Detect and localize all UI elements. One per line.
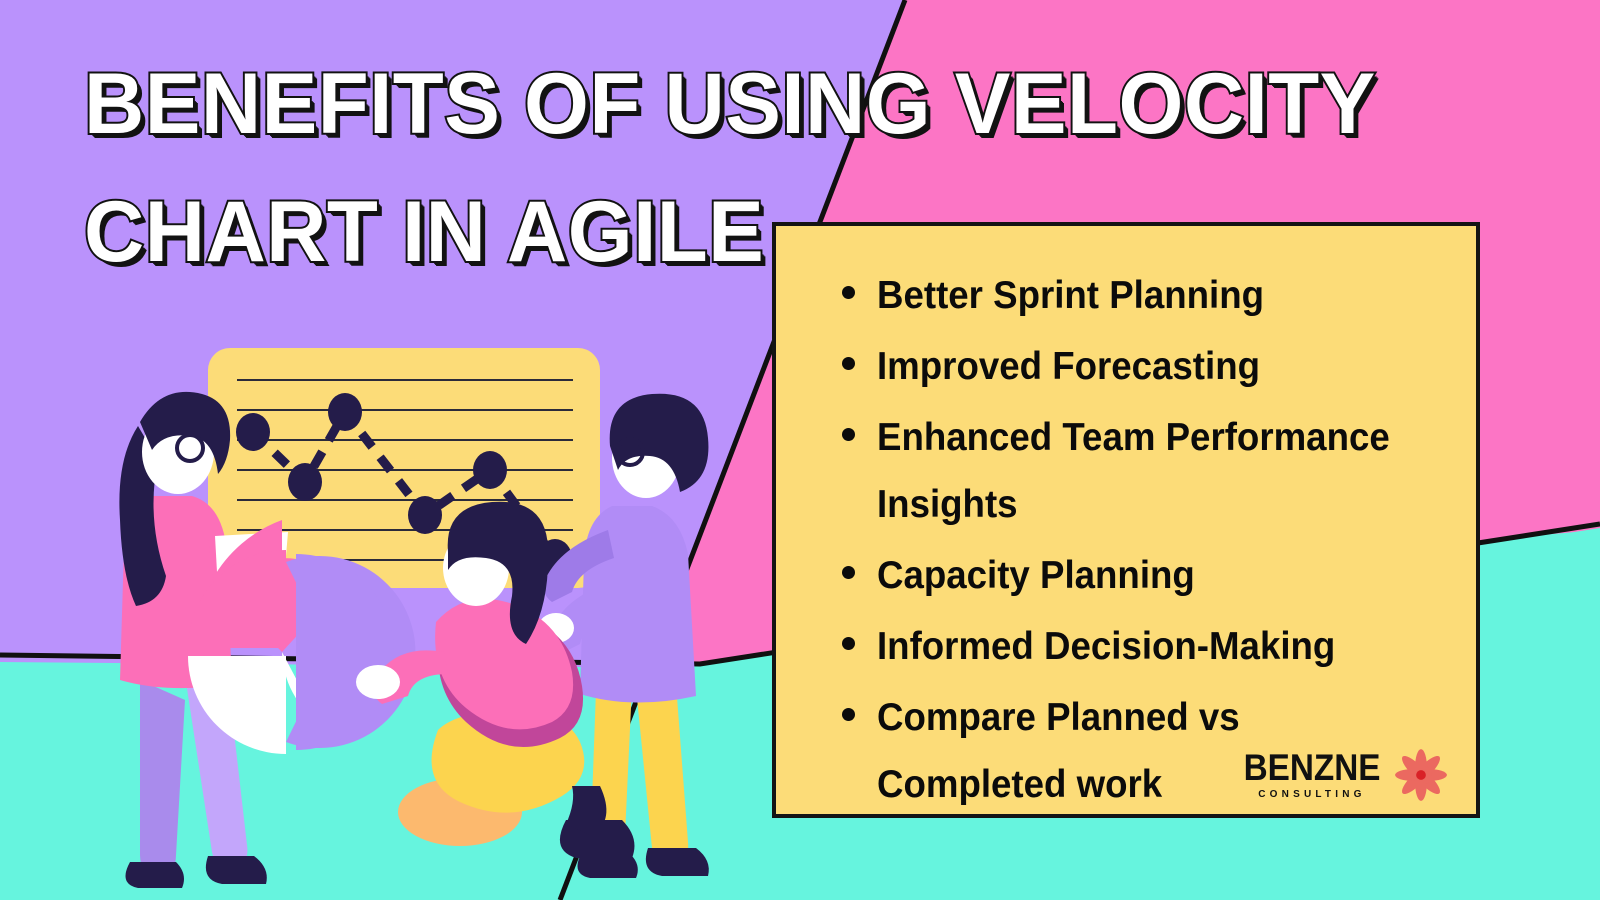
bullet-dot-icon [842, 637, 855, 650]
bullet-dot-icon [842, 286, 855, 299]
bullet-dot-icon [842, 357, 855, 370]
woman-left-leg [140, 680, 185, 875]
list-item: Better Sprint Planning [842, 262, 1456, 329]
bullet-label: Enhanced Team Performance Insights [877, 404, 1421, 538]
bullet-label: Capacity Planning [877, 542, 1195, 609]
benefits-list: Better Sprint Planning Improved Forecast… [842, 262, 1456, 822]
bullet-label: Better Sprint Planning [877, 262, 1264, 329]
list-item: Capacity Planning [842, 542, 1456, 609]
brand-logo-text: BENZNE CONSULTING [1236, 750, 1388, 800]
bullet-dot-icon [842, 566, 855, 579]
list-item: Enhanced Team Performance Insights [842, 404, 1456, 538]
brand-name: BENZNE [1243, 750, 1380, 786]
man-right-shoe [646, 848, 709, 876]
woman-right-shoe [206, 856, 267, 884]
flower-icon [1394, 748, 1448, 802]
infographic-canvas: BENEFITS OF USING VELOCITY CHART IN AGIL… [0, 0, 1600, 900]
brand-tagline: CONSULTING [1258, 789, 1365, 800]
brand-logo: BENZNE CONSULTING [1236, 748, 1448, 802]
bullet-dot-icon [842, 708, 855, 721]
woman-left-shoe [126, 862, 185, 888]
bullet-dot-icon [842, 428, 855, 441]
list-item: Improved Forecasting [842, 333, 1456, 400]
bullet-label: Improved Forecasting [877, 333, 1260, 400]
bullet-label: Informed Decision-Making [877, 613, 1335, 680]
list-item: Informed Decision-Making [842, 613, 1456, 680]
team-illustration [0, 300, 780, 900]
benefits-panel: Better Sprint Planning Improved Forecast… [772, 222, 1480, 818]
man-right-leg [636, 684, 688, 865]
kneeling-hand [356, 665, 400, 699]
